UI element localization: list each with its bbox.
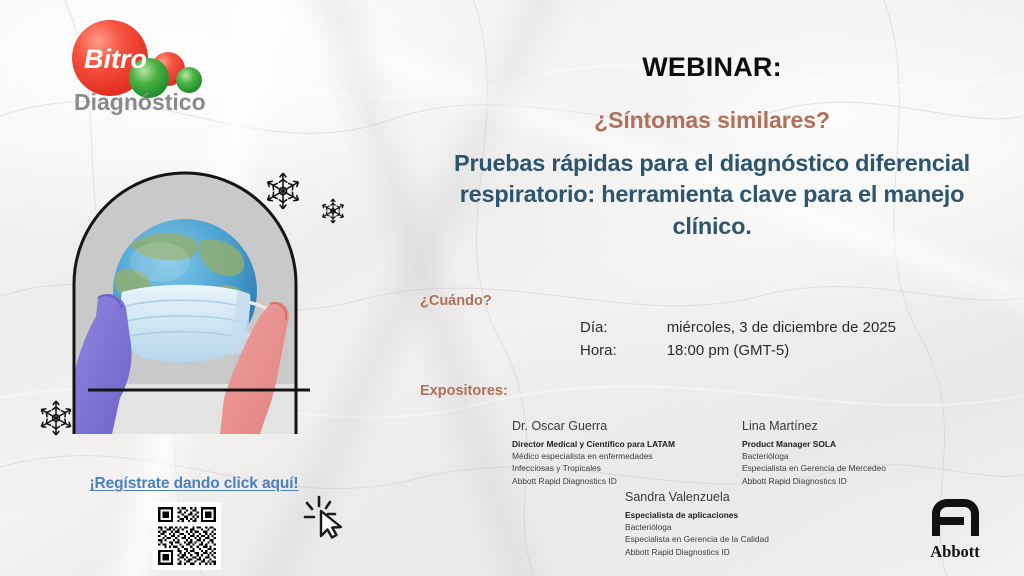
when-key: Hora: — [580, 341, 665, 362]
speaker-card: Sandra Valenzuela Especialista de aplica… — [625, 490, 769, 558]
click-cursor-icon — [297, 487, 351, 541]
speaker-detail: Abbott Rapid Diagnostics ID — [742, 475, 886, 487]
speakers-label: Expositores: — [420, 383, 508, 399]
speaker-detail: Bacterióloga — [625, 521, 769, 533]
register-link[interactable]: ¡Regístrate dando click aquí! — [88, 475, 300, 493]
when-details: Día: miércoles, 3 de diciembre de 2025 H… — [578, 316, 898, 363]
logo-text-bitro: Bitro — [84, 44, 147, 74]
speaker-detail: Abbott Rapid Diagnostics ID — [512, 475, 675, 487]
logo-text-diagnostico: Diagnóstico — [74, 89, 206, 115]
abbott-logo: Abbott — [916, 492, 994, 562]
when-label: ¿Cuándo? — [420, 293, 492, 309]
abbott-wordmark: Abbott — [930, 542, 980, 561]
snowflake-icon — [36, 398, 76, 438]
speaker-card: Dr. Oscar Guerra Director Medical y Cien… — [512, 419, 675, 487]
bitro-diagnostico-logo: Bitro Diagnóstico — [52, 16, 252, 116]
abbott-logo-svg: Abbott — [916, 492, 994, 562]
speaker-detail: Especialista en Gerencia de Mercedeo — [742, 462, 886, 474]
speaker-detail: Especialista en Gerencia de la Calidad — [625, 533, 769, 545]
speaker-name: Dr. Oscar Guerra — [512, 419, 675, 433]
speaker-role: Product Manager SOLA — [742, 438, 886, 450]
speaker-role: Especialista de aplicaciones — [625, 509, 769, 521]
when-value: 18:00 pm (GMT-5) — [667, 341, 896, 362]
speaker-detail: Infecciosas y Tropicales — [512, 462, 675, 474]
when-row: Día: miércoles, 3 de diciembre de 2025 — [580, 318, 896, 339]
when-row: Hora: 18:00 pm (GMT-5) — [580, 341, 896, 362]
snowflake-icon — [318, 196, 348, 226]
speaker-detail: Bacterióloga — [742, 450, 886, 462]
webinar-title: Pruebas rápidas para el diagnóstico dife… — [426, 148, 998, 242]
webinar-poster: Bitro Diagnóstico — [0, 0, 1024, 576]
speaker-name: Lina Martínez — [742, 419, 886, 433]
abbott-symbol — [932, 499, 979, 536]
qr-code[interactable] — [153, 502, 221, 570]
when-value: miércoles, 3 de diciembre de 2025 — [667, 318, 896, 339]
speaker-role: Director Medical y Científico para LATAM — [512, 438, 675, 450]
logo-svg: Bitro Diagnóstico — [52, 16, 252, 116]
speaker-detail: Abbott Rapid Diagnostics ID — [625, 546, 769, 558]
page-subtitle: ¿Síntomas similares? — [420, 107, 1004, 134]
snowflake-icon — [262, 170, 304, 212]
when-key: Día: — [580, 318, 665, 339]
speaker-detail: Médico especialista en enfermedades — [512, 450, 675, 462]
speaker-name: Sandra Valenzuela — [625, 490, 769, 504]
page-title-webinar: WEBINAR: — [420, 52, 1004, 83]
speaker-card: Lina Martínez Product Manager SOLA Bacte… — [742, 419, 886, 487]
